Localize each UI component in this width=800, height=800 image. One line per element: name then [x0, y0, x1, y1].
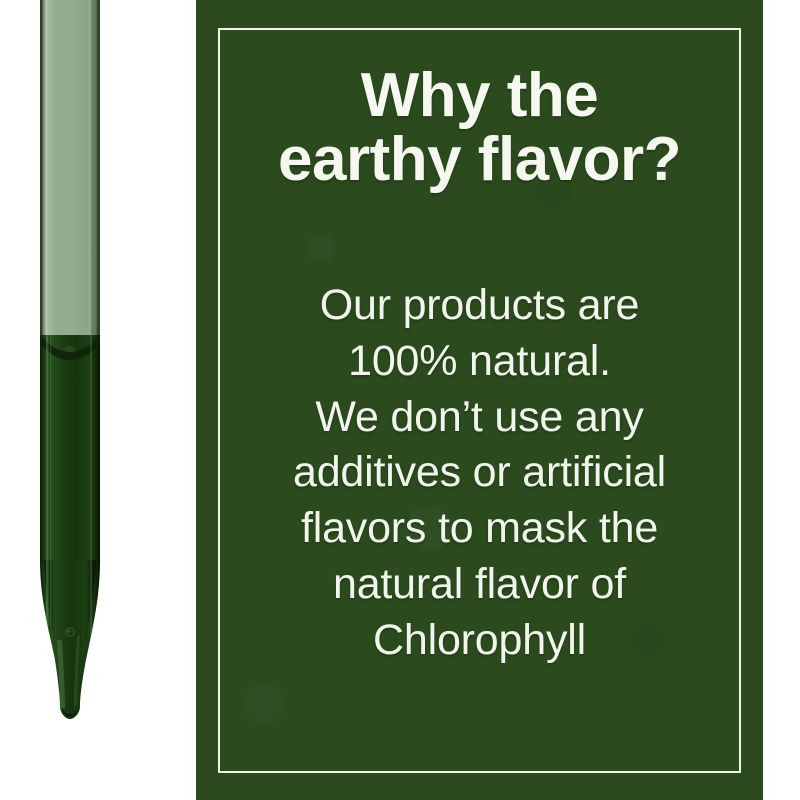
glass-dropper-pipette-image [0, 0, 150, 800]
dropper-glass-tube [40, 0, 100, 342]
panel-body-text: Our products are 100% natural. We don’t … [293, 192, 666, 669]
panel-content: Why the earthy flavor? Our products are … [230, 0, 729, 800]
dropper-liquid [40, 335, 100, 719]
green-info-panel: Why the earthy flavor? Our products are … [196, 0, 763, 800]
dropper-illustration [0, 0, 150, 800]
panel-headline: Why the earthy flavor? [278, 0, 681, 192]
product-infographic-canvas: Why the earthy flavor? Our products are … [0, 0, 800, 800]
